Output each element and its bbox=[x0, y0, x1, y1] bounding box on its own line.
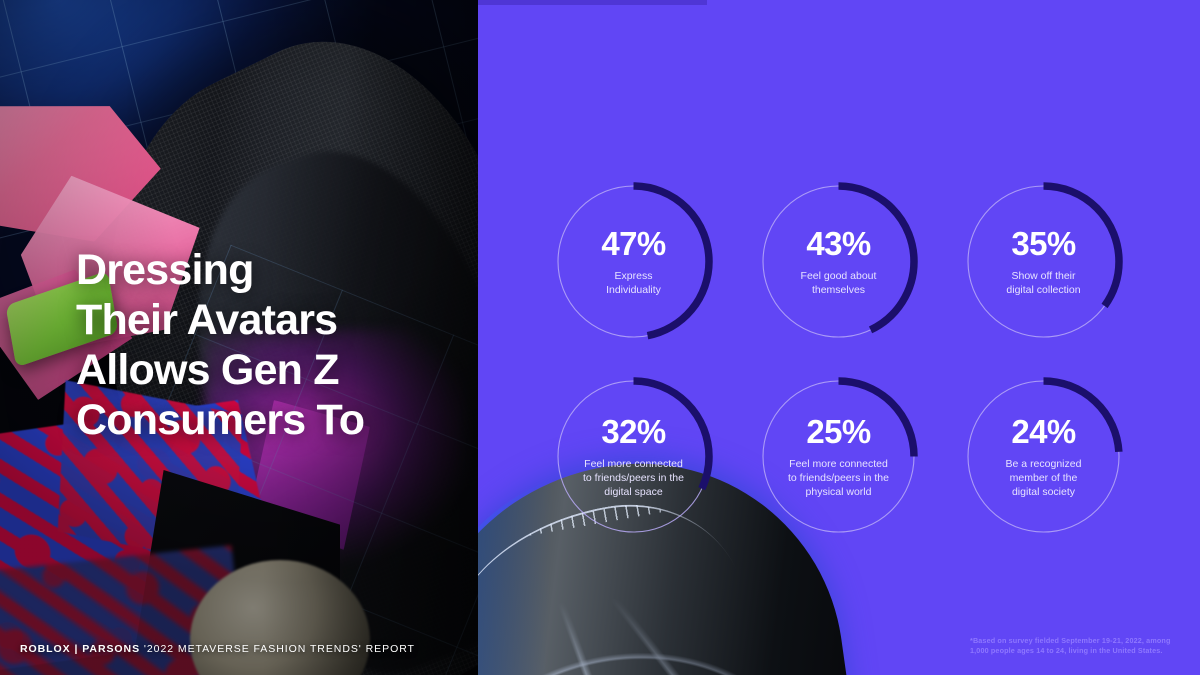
donut-center-content: 35%Show off theirdigital collection bbox=[962, 180, 1125, 343]
stat-cell: 24%Be a recognizedmember of thedigital s… bbox=[951, 359, 1136, 554]
stat-value: 47% bbox=[601, 227, 665, 260]
stat-cell: 25%Feel more connectedto friends/peers i… bbox=[746, 359, 931, 554]
donut-gauge: 24%Be a recognizedmember of thedigital s… bbox=[962, 375, 1125, 538]
donut-gauge: 47%ExpressIndividuality bbox=[552, 180, 715, 343]
donut-gauge: 25%Feel more connectedto friends/peers i… bbox=[757, 375, 920, 538]
stat-label-line: Feel more connected bbox=[583, 457, 684, 471]
stat-label: Feel more connectedto friends/peers in t… bbox=[583, 457, 684, 499]
stat-cell: 43%Feel good aboutthemselves bbox=[746, 164, 931, 359]
stat-label: Be a recognizedmember of thedigital soci… bbox=[1006, 457, 1082, 499]
stat-cell: 47%ExpressIndividuality bbox=[541, 164, 726, 359]
stat-label-line: to friends/peers in the bbox=[788, 471, 889, 485]
brand-credit: ROBLOX | PARSONS '2022 METAVERSE FASHION… bbox=[20, 643, 415, 655]
stat-label: ExpressIndividuality bbox=[606, 269, 661, 297]
donut-gauge: 43%Feel good aboutthemselves bbox=[757, 180, 920, 343]
footnote: *Based on survey fielded September 19-21… bbox=[970, 636, 1184, 656]
donut-gauge: 35%Show off theirdigital collection bbox=[962, 180, 1125, 343]
stat-label-line: Feel more connected bbox=[788, 457, 889, 471]
stat-cell: 35%Show off theirdigital collection bbox=[951, 164, 1136, 359]
stat-cell: 32%Feel more connectedto friends/peers i… bbox=[541, 359, 726, 554]
title-line-2: Their Avatars bbox=[76, 295, 406, 345]
stat-label-line: digital collection bbox=[1006, 283, 1080, 297]
donut-center-content: 25%Feel more connectedto friends/peers i… bbox=[757, 375, 920, 538]
brand-names: ROBLOX | PARSONS bbox=[20, 643, 140, 655]
title-line-1: Dressing bbox=[76, 245, 406, 295]
hero-artwork: Dressing Their Avatars Allows Gen Z Cons… bbox=[0, 0, 478, 675]
stat-label-line: Individuality bbox=[606, 283, 661, 297]
stat-value: 24% bbox=[1011, 415, 1075, 448]
stat-label: Show off theirdigital collection bbox=[1006, 269, 1080, 297]
stat-label-line: physical world bbox=[788, 485, 889, 499]
page-title: Dressing Their Avatars Allows Gen Z Cons… bbox=[76, 245, 406, 445]
stat-value: 32% bbox=[601, 415, 665, 448]
stat-label-line: digital society bbox=[1006, 485, 1082, 499]
stat-value: 43% bbox=[806, 227, 870, 260]
stat-label: Feel good aboutthemselves bbox=[801, 269, 877, 297]
donut-center-content: 47%ExpressIndividuality bbox=[552, 180, 715, 343]
donut-center-content: 24%Be a recognizedmember of thedigital s… bbox=[962, 375, 1125, 538]
stat-label-line: Be a recognized bbox=[1006, 457, 1082, 471]
stat-label-line: to friends/peers in the bbox=[583, 471, 684, 485]
presentation-slide: Dressing Their Avatars Allows Gen Z Cons… bbox=[0, 0, 1200, 675]
stat-label-line: digital space bbox=[583, 485, 684, 499]
title-line-3: Allows Gen Z bbox=[76, 345, 406, 395]
stat-label-line: Feel good about bbox=[801, 269, 877, 283]
brand-report-title: '2022 METAVERSE FASHION TRENDS' REPORT bbox=[144, 643, 415, 655]
donut-center-content: 43%Feel good aboutthemselves bbox=[757, 180, 920, 343]
stat-value: 25% bbox=[806, 415, 870, 448]
stat-label: Feel more connectedto friends/peers in t… bbox=[788, 457, 889, 499]
stats-panel: 47%ExpressIndividuality43%Feel good abou… bbox=[478, 0, 1200, 675]
stat-label-line: Express bbox=[606, 269, 661, 283]
title-line-4: Consumers To bbox=[76, 395, 406, 445]
panel-top-accent-bar bbox=[478, 0, 707, 5]
stat-label-line: Show off their bbox=[1006, 269, 1080, 283]
donut-gauge: 32%Feel more connectedto friends/peers i… bbox=[552, 375, 715, 538]
stat-label-line: member of the bbox=[1006, 471, 1082, 485]
stat-value: 35% bbox=[1011, 227, 1075, 260]
stats-grid: 47%ExpressIndividuality43%Feel good abou… bbox=[541, 164, 1136, 554]
donut-center-content: 32%Feel more connectedto friends/peers i… bbox=[552, 375, 715, 538]
stat-label-line: themselves bbox=[801, 283, 877, 297]
